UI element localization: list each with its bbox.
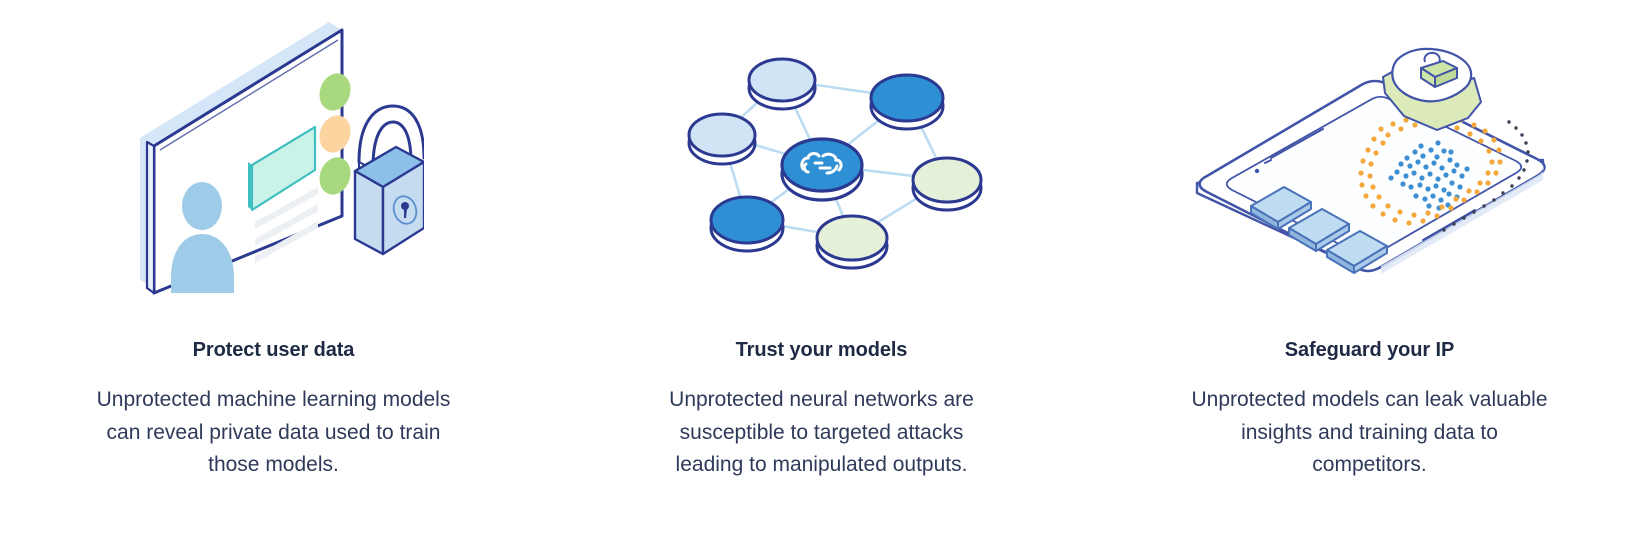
tablet-with-data-and-shield-illustration xyxy=(1096,0,1643,310)
feature-description: Unprotected machine learning models can … xyxy=(97,384,451,482)
features-row: Protect user data Unprotected machine le… xyxy=(0,0,1643,553)
feature-card-protect-user-data: Protect user data Unprotected machine le… xyxy=(0,0,547,553)
feature-card-safeguard-your-ip: Safeguard your IP Unprotected models can… xyxy=(1096,0,1643,553)
feature-title: Protect user data xyxy=(193,338,355,362)
feature-title: Trust your models xyxy=(736,338,908,362)
id-card-with-padlock-illustration xyxy=(0,0,547,310)
neural-network-nodes-illustration xyxy=(548,0,1095,310)
feature-title: Safeguard your IP xyxy=(1285,338,1454,362)
feature-description: Unprotected models can leak valuable ins… xyxy=(1191,384,1547,482)
feature-description: Unprotected neural networks are suscepti… xyxy=(669,384,974,482)
feature-card-trust-your-models: Trust your models Unprotected neural net… xyxy=(548,0,1095,553)
